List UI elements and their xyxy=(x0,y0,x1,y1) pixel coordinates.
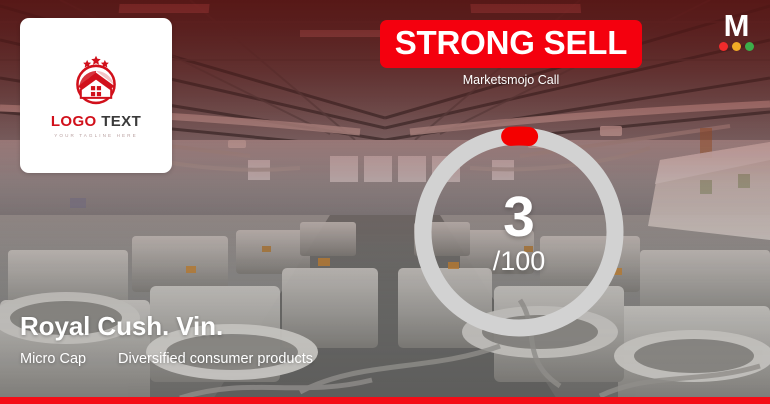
company-meta: Micro Cap Diversified consumer products xyxy=(20,350,350,370)
logo-word-secondary: TEXT xyxy=(101,113,141,130)
stock-call-card: LOGO TEXT YOUR TAGLINE HERE STRONG SELL … xyxy=(0,0,770,404)
house-with-stars-logo-icon xyxy=(69,54,123,108)
logo-tagline: YOUR TAGLINE HERE xyxy=(54,133,138,138)
call-banner: STRONG SELL xyxy=(380,20,642,68)
brand-dot-green xyxy=(745,42,754,51)
company-market-cap: Micro Cap xyxy=(20,350,118,370)
company-info: Royal Cush. Vin. Micro Cap Diversified c… xyxy=(20,312,350,370)
call-label: STRONG SELL xyxy=(380,25,642,61)
call-source: Marketsmojo Call xyxy=(380,74,642,88)
gauge-track xyxy=(423,136,615,328)
company-sector: Diversified consumer products xyxy=(118,350,313,370)
company-logo-card: LOGO TEXT YOUR TAGLINE HERE xyxy=(20,18,172,173)
logo-word-primary: LOGO xyxy=(51,113,97,130)
brand-dot-red xyxy=(719,42,728,51)
company-name: Royal Cush. Vin. xyxy=(20,312,350,341)
brand-dots xyxy=(713,42,759,51)
brand-letter-m: M xyxy=(713,12,759,41)
brand-dot-amber xyxy=(732,42,741,51)
call-block: STRONG SELL Marketsmojo Call xyxy=(380,20,642,87)
bottom-accent-strip xyxy=(0,397,770,404)
marketsmojo-brand-logo: M xyxy=(713,12,759,51)
score-gauge: 3 /100 xyxy=(410,123,628,341)
logo-wordmark: LOGO TEXT xyxy=(51,114,141,129)
